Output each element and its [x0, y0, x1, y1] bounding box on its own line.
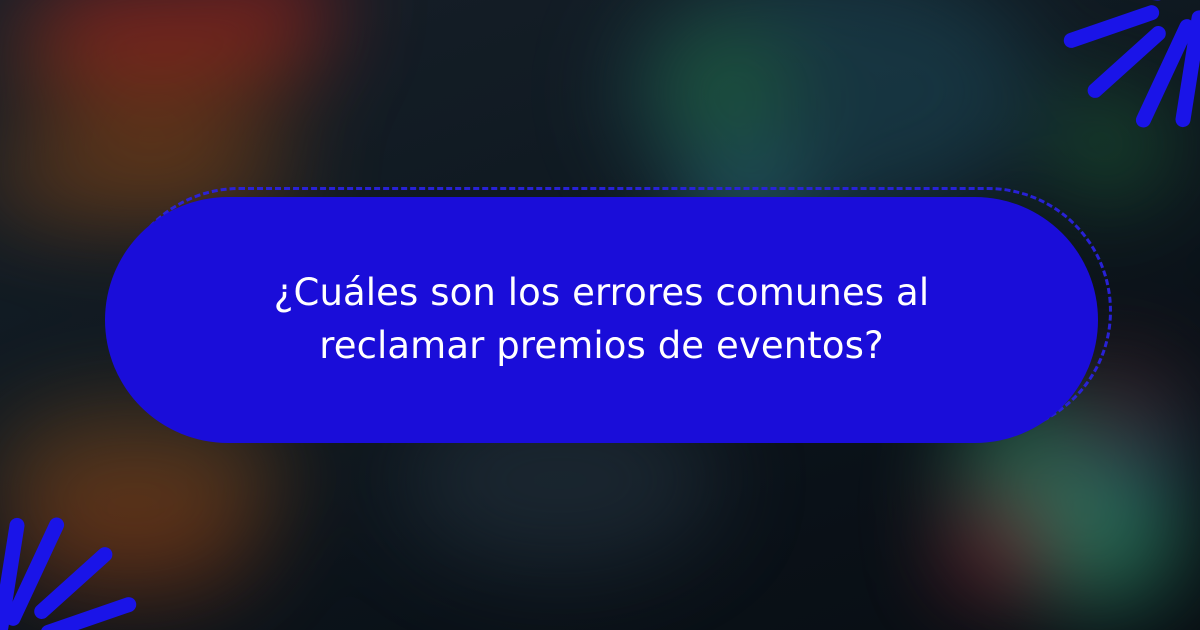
question-card[interactable]: ¿Cuáles son los errores comunes al recla… [105, 197, 1098, 443]
bokeh-green-topcenter [660, 30, 790, 140]
bokeh-amber-leftbottom [0, 480, 260, 600]
poster-canvas: ¿Cuáles son los errores comunes al recla… [0, 0, 1200, 630]
question-text: ¿Cuáles son los errores comunes al recla… [202, 267, 1002, 372]
bokeh-green-bottomcenterright [950, 430, 1040, 520]
